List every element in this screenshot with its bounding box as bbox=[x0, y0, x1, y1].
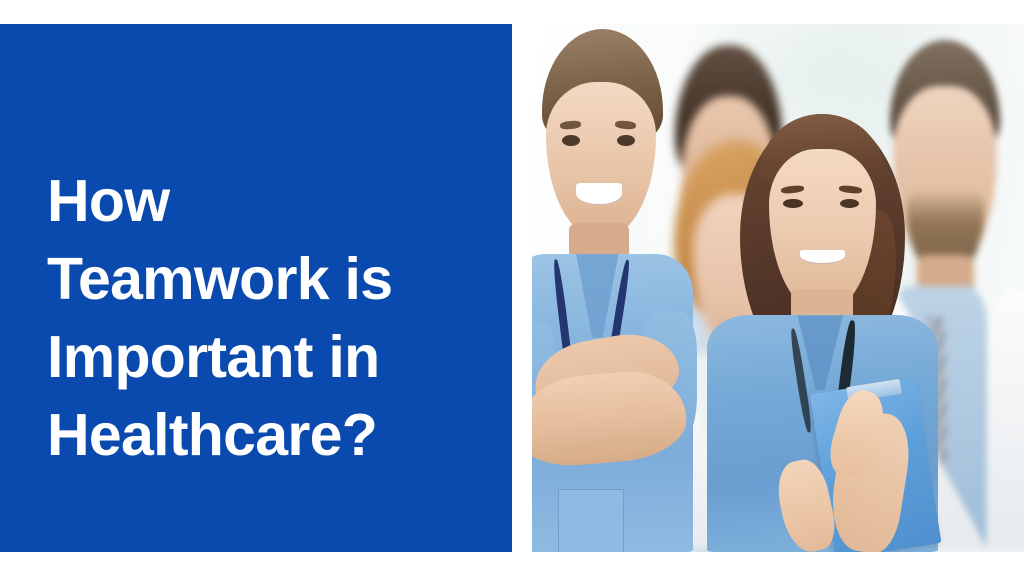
healthcare-team-photo bbox=[532, 24, 1024, 552]
person-front-center bbox=[719, 114, 926, 552]
photo-background bbox=[532, 24, 1024, 552]
eye-right bbox=[617, 135, 635, 146]
face bbox=[546, 82, 656, 239]
title-panel: How Teamwork is Important in Healthcare? bbox=[0, 24, 512, 552]
eye-left bbox=[562, 135, 580, 146]
headline-line-2: Teamwork is bbox=[47, 240, 477, 318]
page-title: How Teamwork is Important in Healthcare? bbox=[47, 162, 477, 474]
banner-image: How Teamwork is Important in Healthcare? bbox=[0, 0, 1024, 576]
scrubs-pocket bbox=[558, 489, 624, 552]
headline-line-3: Important in bbox=[47, 318, 477, 396]
headline-line-1: How bbox=[47, 162, 477, 240]
eye-left bbox=[783, 199, 803, 209]
headline-line-4: Healthcare? bbox=[47, 396, 477, 474]
person-front-left bbox=[532, 29, 689, 552]
